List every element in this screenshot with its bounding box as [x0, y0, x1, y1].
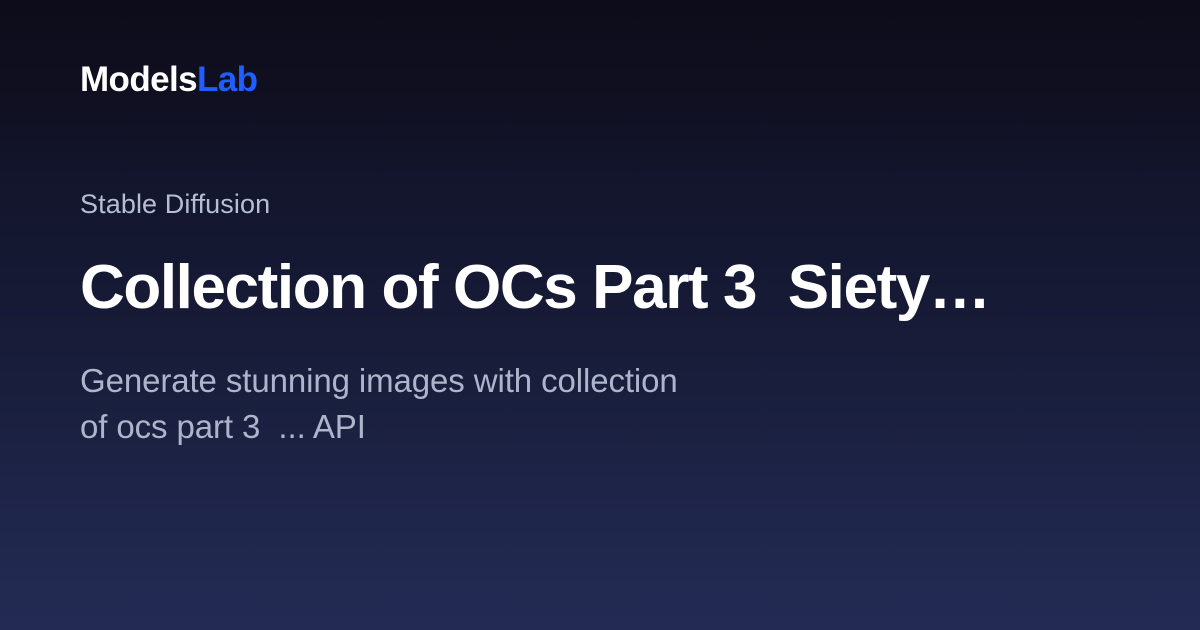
brand-logo[interactable]: ModelsLab [80, 62, 257, 97]
page-description: Generate stunning images with collection… [80, 358, 700, 449]
brand-logo-primary: Models [80, 60, 197, 99]
og-card: ModelsLab Stable Diffusion Collection of… [0, 0, 1200, 630]
page-title: Collection of OCs Part 3 Siety… [80, 253, 1120, 322]
category-label: Stable Diffusion [80, 188, 270, 220]
brand-logo-accent: Lab [197, 60, 257, 99]
